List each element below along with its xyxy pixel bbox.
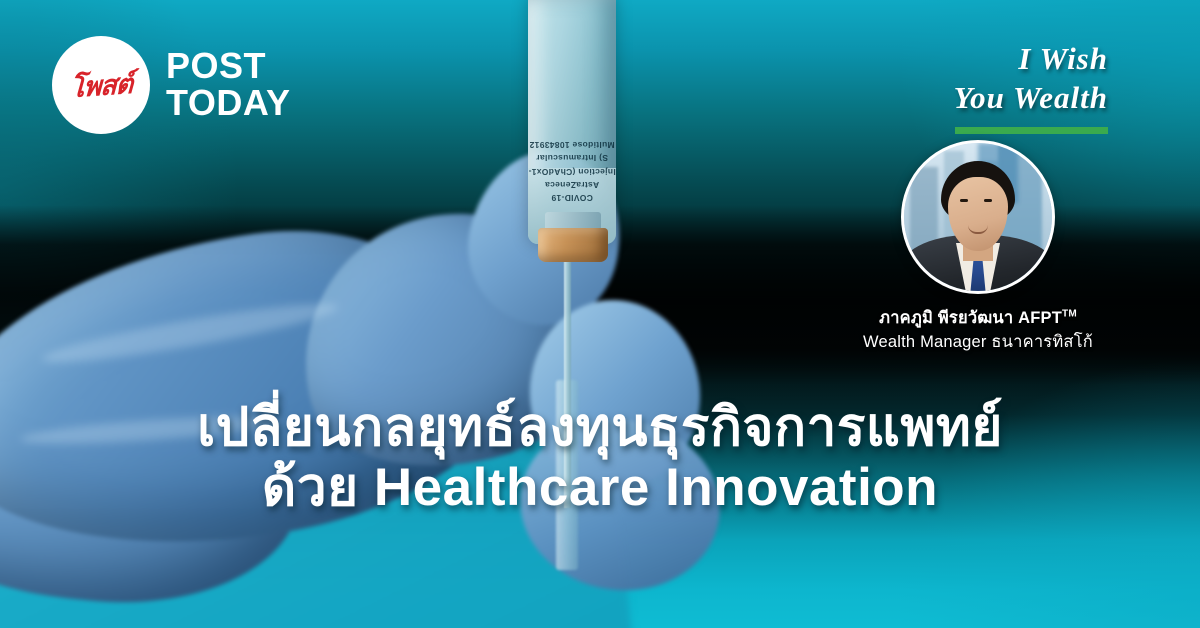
author-name-trademark: TM: [1062, 309, 1077, 320]
column-header: I Wish You Wealth: [954, 40, 1108, 134]
logo-word-today: TODAY: [166, 85, 291, 122]
author-block: ภาคภูมิ พีรยวัฒนา AFPTTM Wealth Manager …: [818, 140, 1138, 355]
vial-label-text: COVID-19 AstraZeneca Injection (ChAdOx1-…: [528, 8, 616, 208]
column-title: I Wish You Wealth: [954, 40, 1108, 118]
column-accent-rule: [955, 127, 1108, 134]
avatar-eye-right: [984, 199, 992, 202]
author-name: ภาคภูมิ พีรยวัฒนา AFPTTM: [818, 307, 1138, 331]
headline-line-1: เปลี่ยนกลยุทธ์ลงทุนธุรกิจการแพทย์: [197, 398, 1003, 457]
post-today-logo[interactable]: โพสต์ POST TODAY: [52, 36, 291, 134]
logo-wordmark: POST TODAY: [166, 48, 291, 121]
author-name-text: ภาคภูมิ พีรยวัฒนา AFPT: [879, 309, 1062, 327]
logo-word-post: POST: [166, 48, 291, 85]
page-title: เปลี่ยนกลยุทธ์ลงทุนธุรกิจการแพทย์ ด้วย H…: [0, 398, 1200, 519]
vial-gold-cap: [538, 228, 608, 262]
article-cover-banner: COVID-19 AstraZeneca Injection (ChAdOx1-…: [0, 0, 1200, 628]
avatar-eye-left: [960, 199, 968, 202]
headline-line-2: ด้วย Healthcare Innovation: [40, 458, 1160, 518]
vaccine-vial: COVID-19 AstraZeneca Injection (ChAdOx1-…: [528, 0, 616, 244]
gloved-hand-photo: [0, 120, 760, 628]
logo-thai-script: โพสต์: [69, 61, 133, 109]
logo-circle-mark: โพสต์: [52, 36, 150, 134]
avatar: [901, 140, 1055, 294]
author-role: Wealth Manager ธนาคารทิสโก้: [818, 331, 1138, 355]
